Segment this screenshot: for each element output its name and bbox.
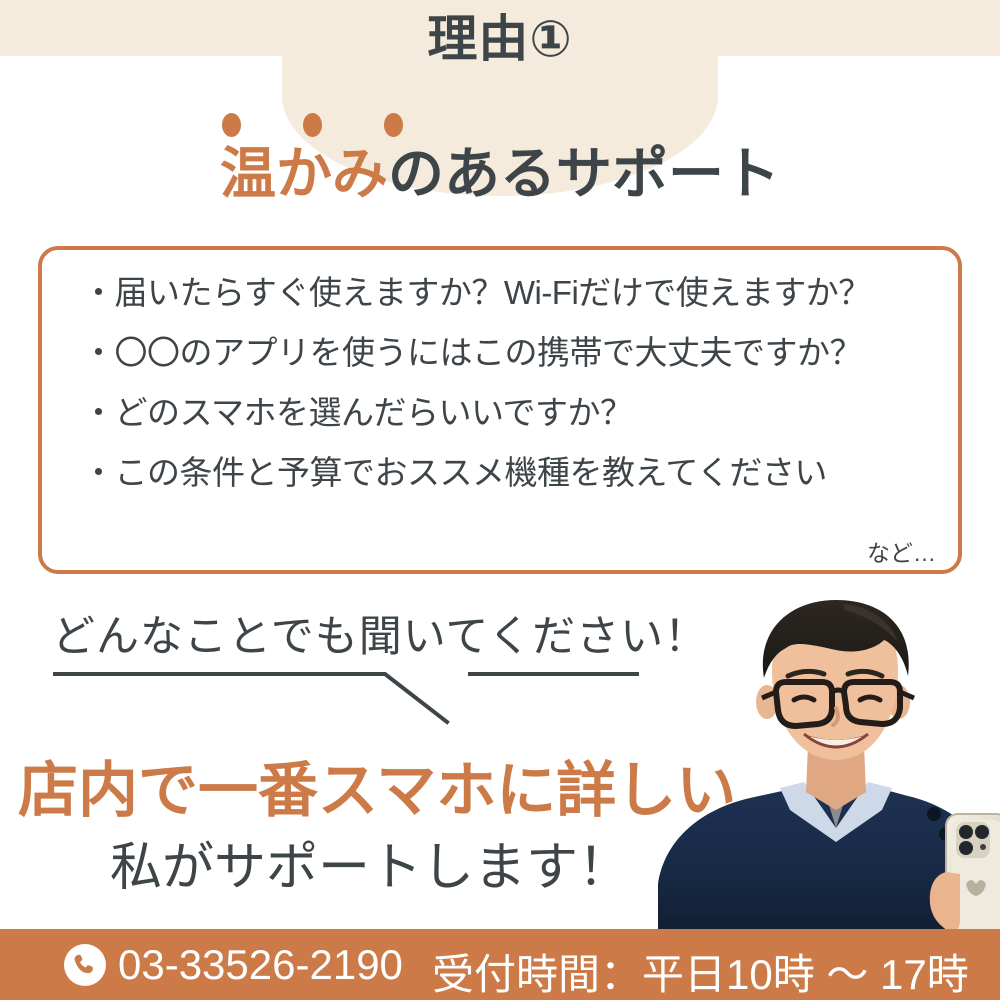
speech-underline-graphic [0,660,700,740]
dot-2-icon [303,113,322,137]
list-item: ・この条件と予算でおススメ機種を教えてください [82,456,940,489]
decorative-dots [222,110,442,140]
etcetera-note: など… [867,534,936,568]
subtitle-highlight: 温かみ [220,142,388,205]
dot-3-icon [384,113,403,137]
page-title: 理由① [0,14,1000,64]
dot-1-icon [222,113,241,137]
headline-primary: 店内で一番スマホに詳しい [18,742,736,829]
subtitle-rest: のあるサポート [388,142,780,205]
list-item: ・どのスマホを選んだらいいですか？ [82,396,940,429]
question-list-box: ・届いたらすぐ使えますか？Wi-Fiだけで使えますか？ ・〇〇のアプリを使うには… [38,246,962,574]
business-hours: 受付時間：平日10時 〜 17時 [432,941,969,1002]
ask-anything-text: どんなことでも聞いてください！ [52,602,708,664]
list-item: ・届いたらすぐ使えますか？Wi-Fiだけで使えますか？ [82,276,940,309]
section-subtitle: 温かみのあるサポート [0,143,1000,205]
phone-number[interactable]: 03-33526-2190 [118,941,403,989]
headline-secondary: 私がサポートします！ [110,825,630,900]
phone-icon[interactable] [64,944,106,986]
staff-photo [646,596,1000,930]
phone-glyph [72,952,98,978]
question-list: ・届いたらすぐ使えますか？Wi-Fiだけで使えますか？ ・〇〇のアプリを使うには… [82,276,940,489]
list-item: ・〇〇のアプリを使うにはこの携帯で大丈夫ですか？ [82,336,940,369]
